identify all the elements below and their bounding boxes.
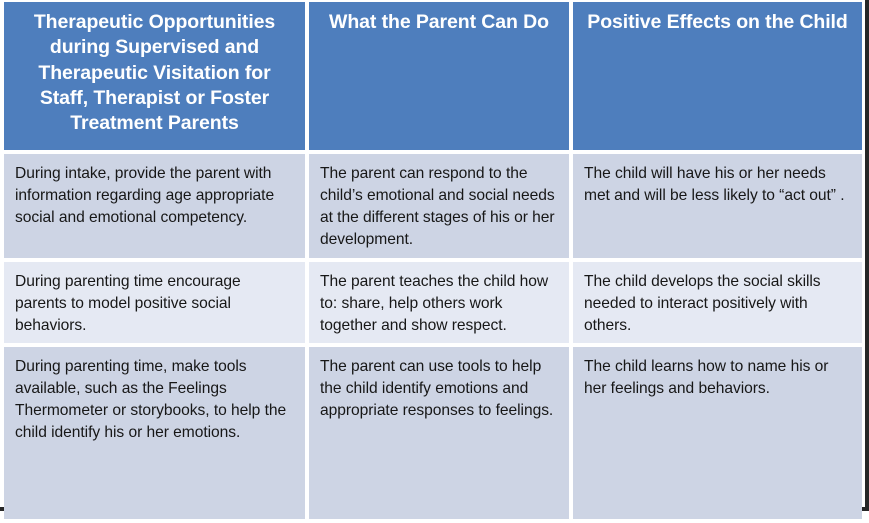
column-header-child-effect: Positive Effects on the Child	[573, 2, 862, 154]
cell-parent-action-1: The parent can respond to the child’s em…	[309, 154, 573, 262]
column-header-opportunities: Therapeutic Opportunities during Supervi…	[4, 2, 309, 154]
cell-child-effect-3-text: The child learns how to name his or her …	[584, 356, 851, 400]
cell-child-effect-1-text: The child will have his or her needs met…	[584, 163, 851, 207]
column-header-opportunities-text: Therapeutic Opportunities during Supervi…	[15, 10, 294, 137]
cell-child-effect-1: The child will have his or her needs met…	[573, 154, 862, 262]
table-row: During parenting time, make tools availa…	[4, 347, 862, 523]
cell-opportunities-2: During parenting time encourage parents …	[4, 262, 309, 347]
cell-opportunities-1: During intake, provide the parent with i…	[4, 154, 309, 262]
table-body: During intake, provide the parent with i…	[4, 154, 862, 523]
cell-child-effect-2: The child develops the social skills nee…	[573, 262, 862, 347]
cell-child-effect-3: The child learns how to name his or her …	[573, 347, 862, 523]
cell-parent-action-2: The parent teaches the child how to: sha…	[309, 262, 573, 347]
cell-opportunities-3: During parenting time, make tools availa…	[4, 347, 309, 523]
cell-child-effect-2-text: The child develops the social skills nee…	[584, 271, 851, 337]
table-row: During intake, provide the parent with i…	[4, 154, 862, 262]
column-header-parent-action-text: What the Parent Can Do	[320, 10, 558, 35]
therapeutic-visitation-table: Therapeutic Opportunities during Supervi…	[4, 2, 862, 523]
cell-parent-action-3-text: The parent can use tools to help the chi…	[320, 356, 558, 422]
table-container: Therapeutic Opportunities during Supervi…	[0, 0, 869, 511]
cell-parent-action-3: The parent can use tools to help the chi…	[309, 347, 573, 523]
table-header: Therapeutic Opportunities during Supervi…	[4, 2, 862, 154]
cell-opportunities-2-text: During parenting time encourage parents …	[15, 271, 294, 337]
cell-opportunities-1-text: During intake, provide the parent with i…	[15, 163, 294, 229]
table-row: During parenting time encourage parents …	[4, 262, 862, 347]
table-header-row: Therapeutic Opportunities during Supervi…	[4, 2, 862, 154]
cell-parent-action-1-text: The parent can respond to the child’s em…	[320, 163, 558, 252]
cell-opportunities-3-text: During parenting time, make tools availa…	[15, 356, 294, 445]
column-header-parent-action: What the Parent Can Do	[309, 2, 573, 154]
cell-parent-action-2-text: The parent teaches the child how to: sha…	[320, 271, 558, 337]
column-header-child-effect-text: Positive Effects on the Child	[584, 10, 851, 35]
